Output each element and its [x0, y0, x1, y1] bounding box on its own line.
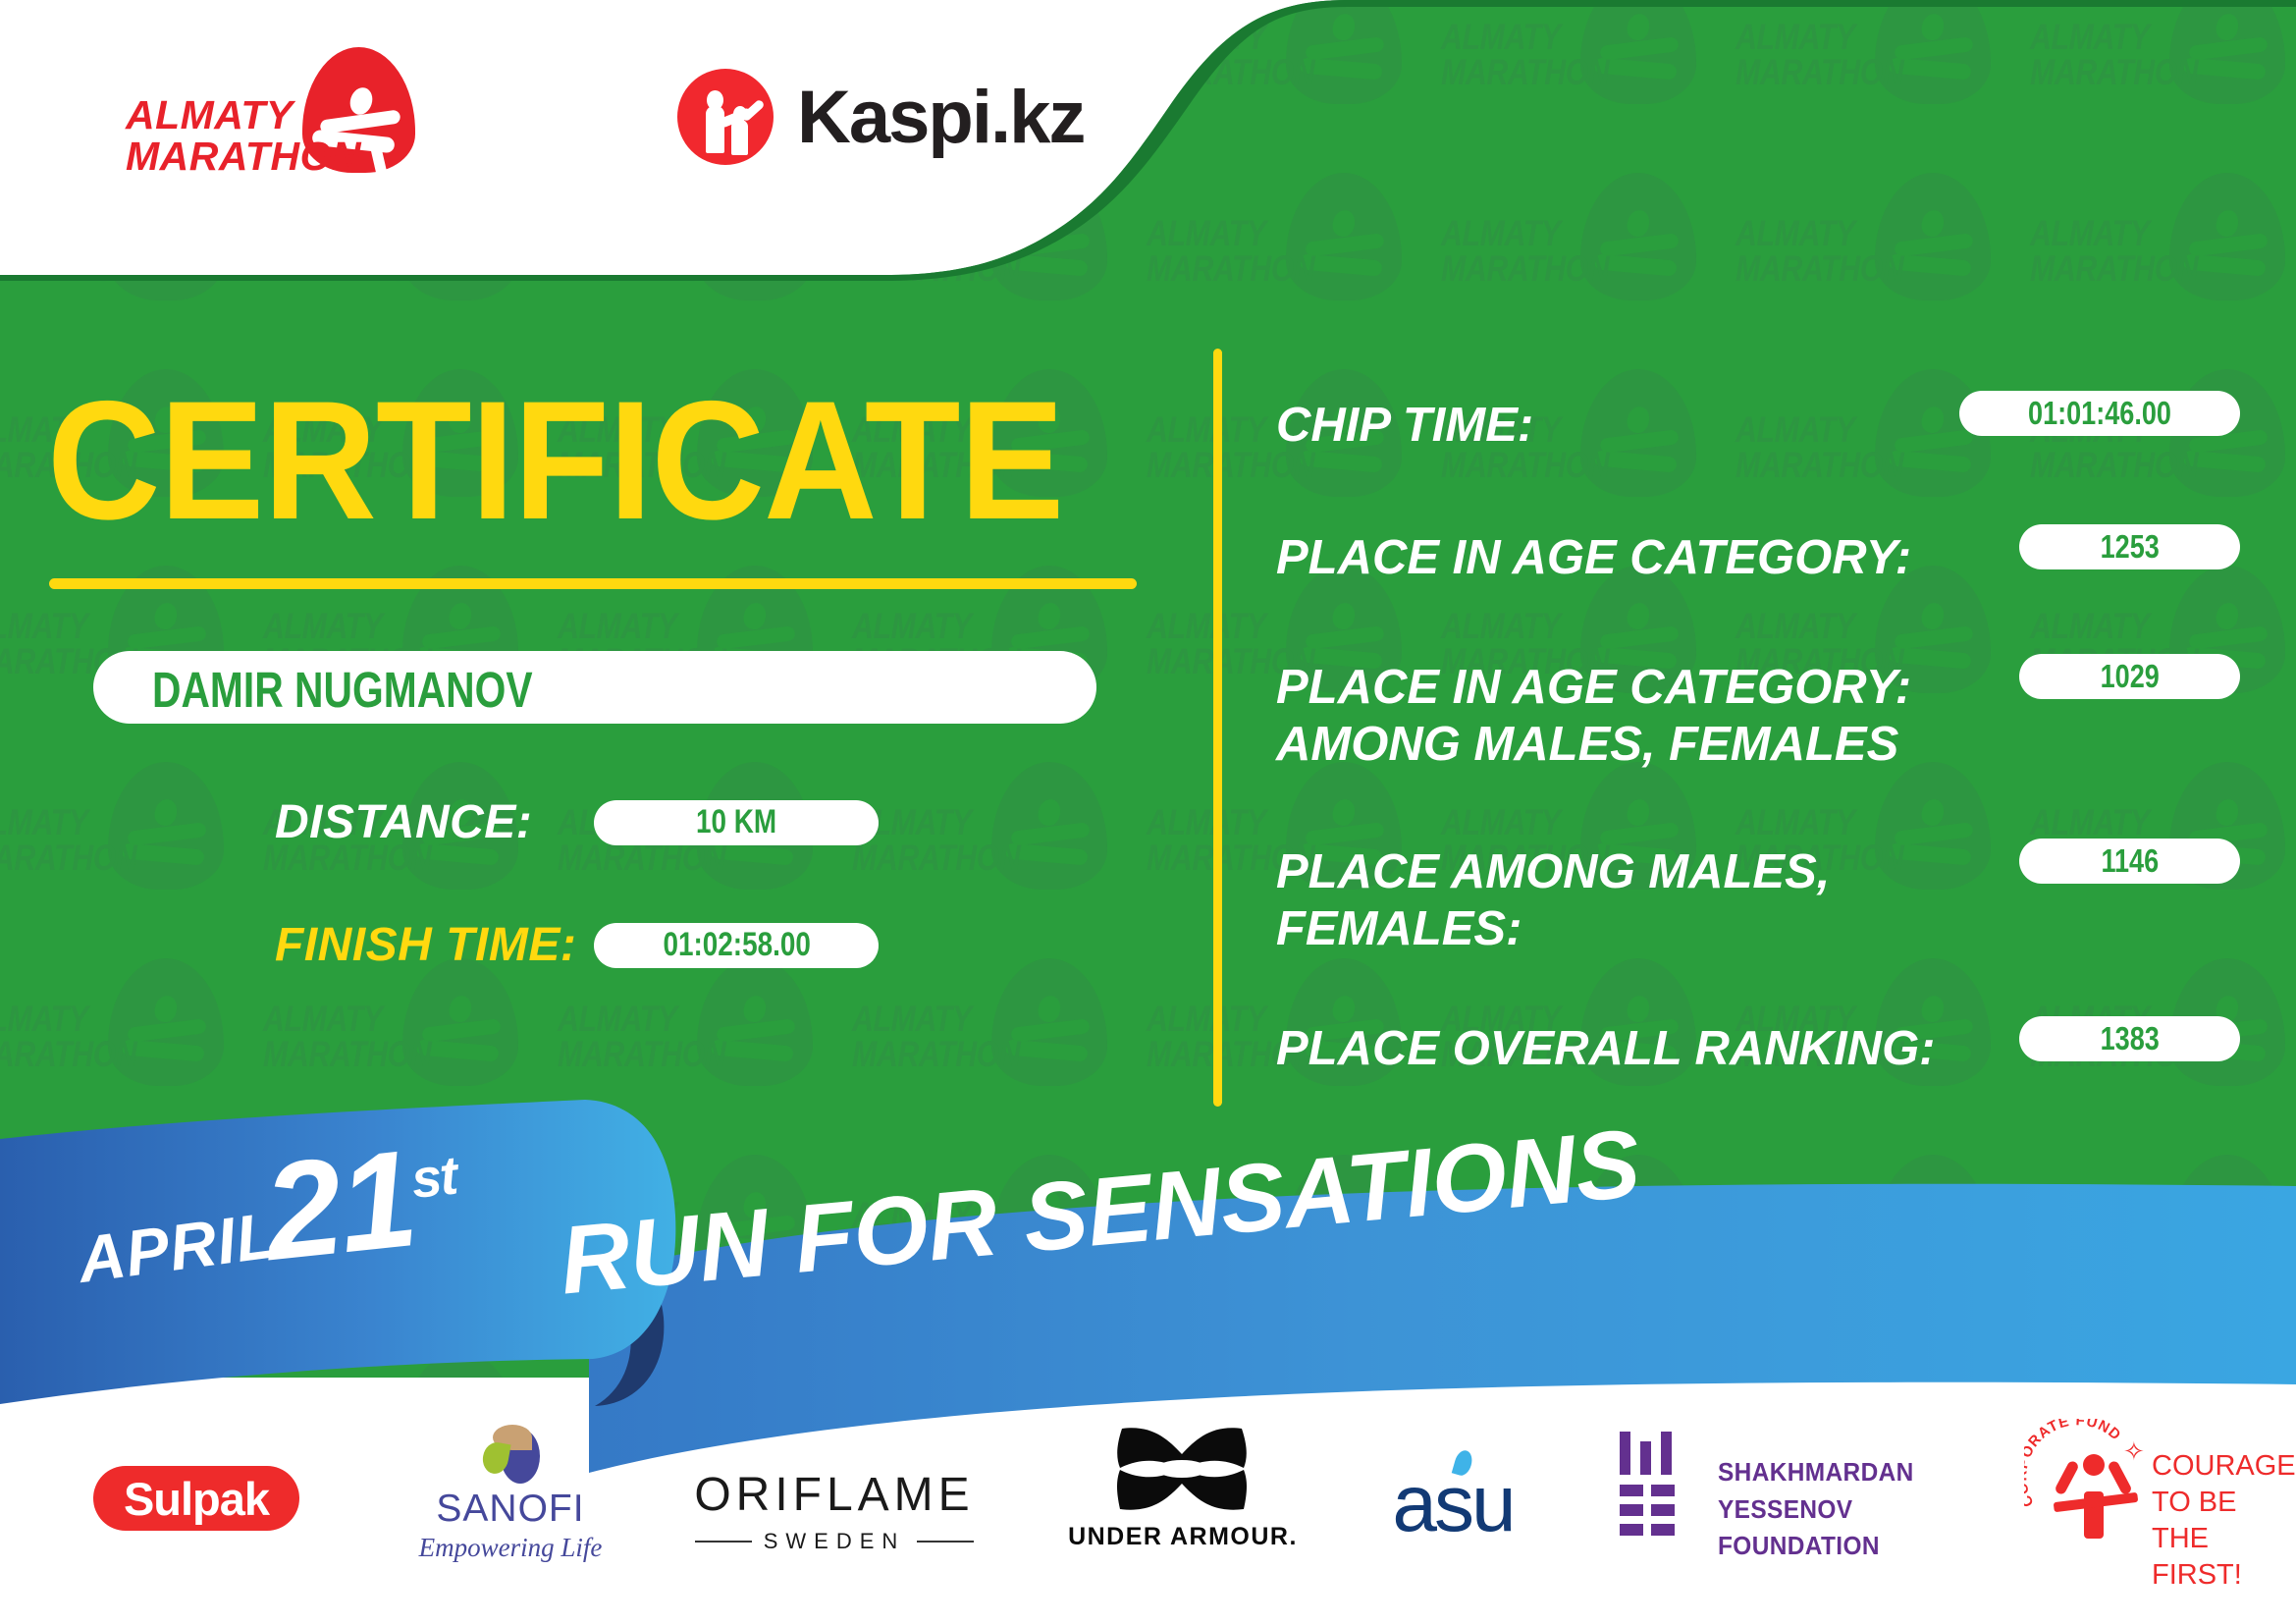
chip-time-value-pill: 01:01:46.00 — [1959, 391, 2240, 436]
oriflame-rule-left — [695, 1541, 752, 1543]
age-category-value: 1253 — [2100, 528, 2159, 566]
finish-time-value: 01:02:58.00 — [663, 926, 810, 964]
almaty-line-1: ALMATY — [126, 92, 294, 137]
oriflame-rule-right — [917, 1541, 974, 1543]
vertical-divider — [1213, 349, 1222, 1107]
distance-value: 10 KM — [696, 803, 776, 841]
under-armour-wordmark: UNDER ARMOUR. — [1055, 1523, 1310, 1551]
oriflame-country: SWEDEN — [764, 1529, 906, 1554]
almaty-line-2: MARATHON — [126, 134, 361, 179]
kaspi-wordmark: Kaspi.kz — [797, 75, 1084, 160]
almaty-marathon-logo: ALMATYMARATHON — [126, 47, 440, 185]
kaspi-adult-body — [706, 106, 724, 153]
page-title: CERTIFICATE — [47, 376, 1063, 545]
oriflame-sub-row: SWEDEN — [687, 1529, 982, 1554]
age-category-mf-value: 1029 — [2100, 658, 2159, 695]
kaspi-logo: Kaspi.kz — [677, 69, 1090, 167]
almaty-marathon-wordmark: ALMATYMARATHON — [126, 94, 361, 177]
place-males-females-value-pill: 1146 — [2019, 839, 2240, 884]
athlete-name-value: DAMIR NUGMANOV — [152, 661, 533, 719]
distance-label: DISTANCE: — [275, 795, 532, 849]
age-category-mf-value-pill: 1029 — [2019, 654, 2240, 699]
place-overall-value-pill: 1383 — [2019, 1016, 2240, 1061]
event-day: 21st — [257, 1113, 465, 1292]
header-logos: ALMATYMARATHON Kaspi.kz — [0, 0, 1347, 281]
finish-time-label: FINISH TIME: — [275, 918, 576, 972]
age-category-value-pill: 1253 — [2019, 524, 2240, 569]
distance-row: DISTANCE: 10 KM — [275, 795, 879, 849]
event-ribbon: APRIL 21st RUN FOR SENSATIONS — [0, 1080, 2296, 1492]
finish-time-value-pill: 01:02:58.00 — [594, 923, 879, 968]
place-overall-value: 1383 — [2100, 1020, 2159, 1057]
sanofi-wordmark: SANOFI — [412, 1488, 609, 1531]
title-divider-rule — [49, 578, 1137, 589]
event-day-number: 21 — [257, 1120, 421, 1289]
finish-time-row: FINISH TIME: 01:02:58.00 — [275, 918, 879, 972]
event-day-suffix: st — [408, 1145, 458, 1210]
chip-time-value: 01:01:46.00 — [2028, 395, 2171, 432]
sanofi-tagline: Empowering Life — [412, 1533, 609, 1563]
distance-value-pill: 10 KM — [594, 800, 879, 845]
kaspi-child-body — [731, 120, 748, 155]
certificate-page: ALMATYMARATHONALMATYMARATHONALMATYMARATH… — [0, 0, 2296, 1624]
place-males-females-value: 1146 — [2101, 842, 2159, 880]
kaspi-circle-icon — [677, 69, 774, 165]
